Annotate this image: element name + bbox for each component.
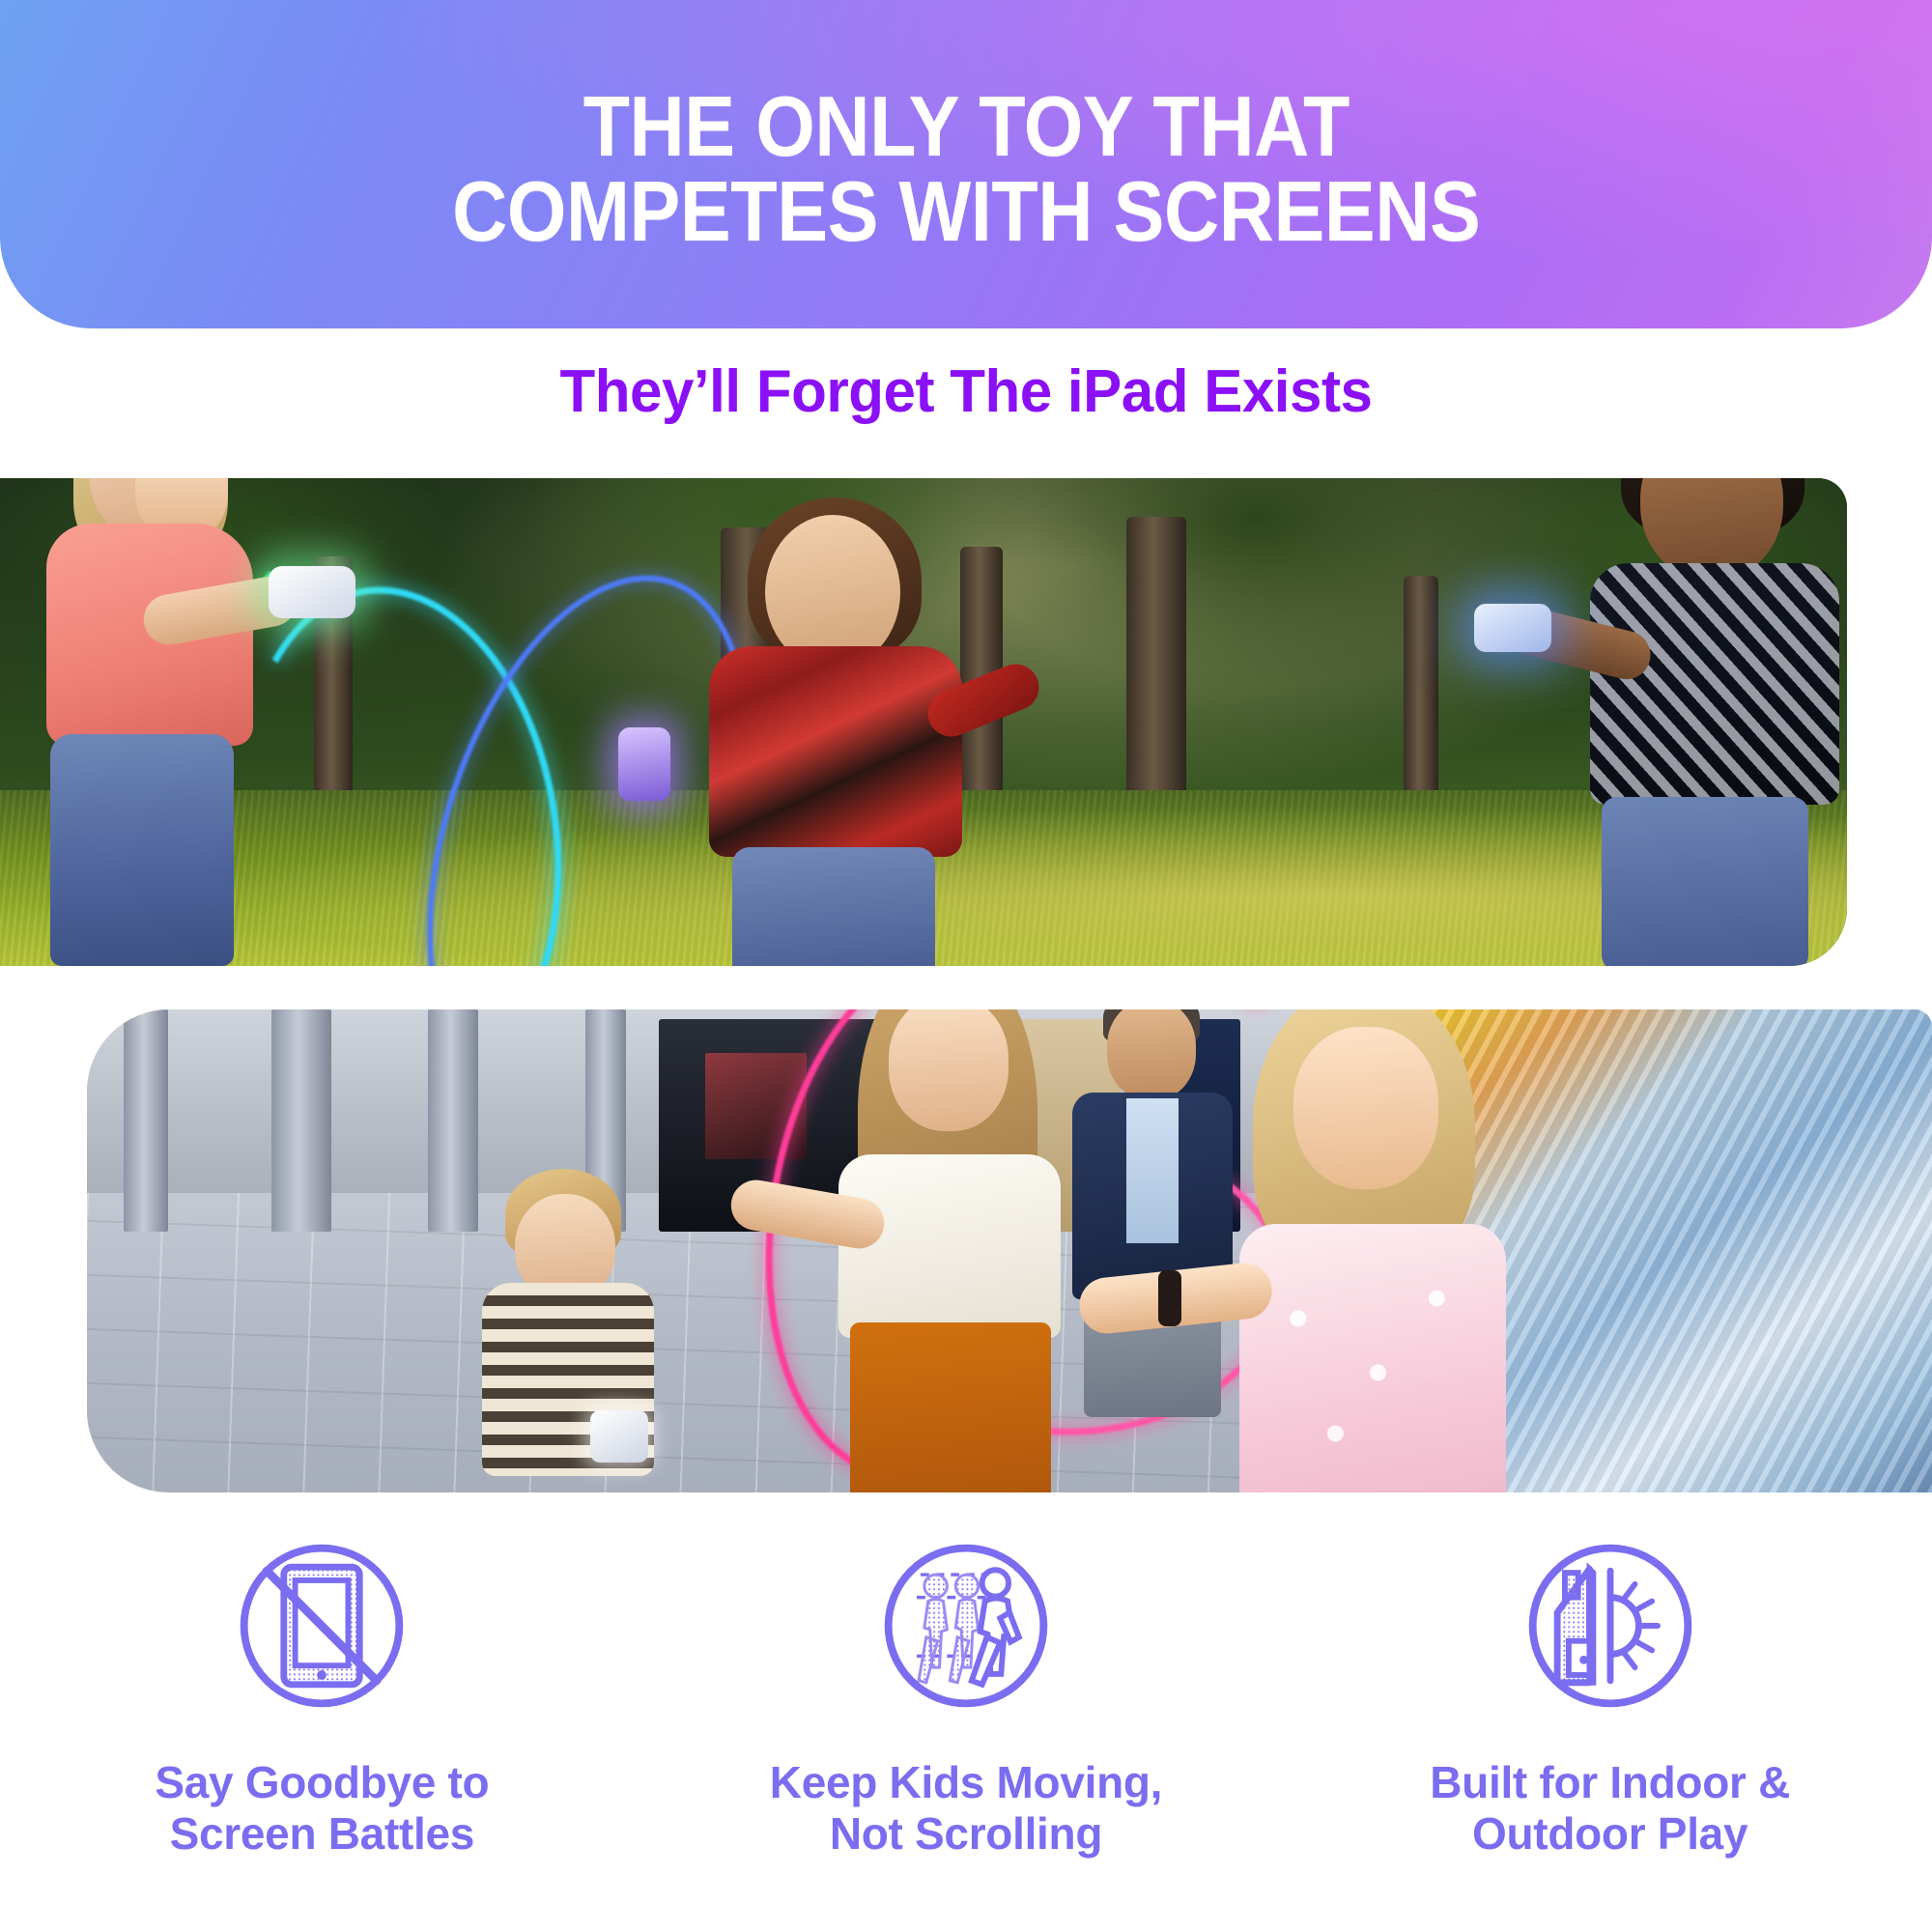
photo-outdoor-park — [0, 478, 1847, 966]
mall-column — [428, 1009, 478, 1232]
toy-controller — [590, 1410, 648, 1463]
head — [1107, 1009, 1196, 1100]
jeans — [50, 734, 234, 966]
glowing-flying-toy — [618, 727, 670, 801]
feature-label-line-1: Keep Kids Moving, — [770, 1757, 1162, 1808]
page-title: THE ONLY TOY THAT COMPETES WITH SCREENS — [452, 74, 1480, 254]
feature-label-line-1: Say Goodbye to — [155, 1757, 489, 1808]
toy-blaster — [1474, 604, 1551, 652]
child-right-with-blaster — [1567, 478, 1847, 966]
plaid-shirt — [709, 646, 962, 857]
child-center-running — [676, 515, 995, 959]
feature-label-line-2: Screen Battles — [155, 1808, 489, 1860]
girl-in-cardigan — [825, 1009, 1076, 1492]
skirt — [850, 1322, 1051, 1492]
jeans — [1602, 797, 1808, 966]
feature-item-screen-battles: Say Goodbye to Screen Battles — [51, 1531, 592, 1861]
toy-blaster — [269, 566, 355, 618]
feature-label-line-1: Built for Indoor & — [1430, 1757, 1790, 1808]
jeans — [732, 847, 935, 966]
walking-figures-motion-icon — [871, 1531, 1061, 1720]
headline-line-2: COMPETES WITH SCREENS — [452, 169, 1480, 254]
mall-column — [124, 1009, 168, 1232]
cardigan — [838, 1154, 1061, 1338]
head — [1293, 1027, 1438, 1189]
subtitle: They’ll Forget The iPad Exists — [29, 357, 1903, 426]
photo-indoor-mall — [87, 1009, 1932, 1492]
header-banner: THE ONLY TOY THAT COMPETES WITH SCREENS — [0, 0, 1932, 328]
feature-list: Say Goodbye to Screen Battles — [0, 1531, 1932, 1861]
patterned-shirt — [1590, 563, 1839, 805]
feature-label-line-2: Outdoor Play — [1430, 1808, 1790, 1860]
wrist-band — [1158, 1270, 1181, 1326]
dress — [1239, 1224, 1506, 1492]
house-with-sun-icon — [1516, 1531, 1705, 1720]
feature-label: Say Goodbye to Screen Battles — [155, 1757, 489, 1861]
feature-label: Built for Indoor & Outdoor Play — [1430, 1757, 1790, 1861]
feature-label-line-2: Not Scrolling — [770, 1808, 1162, 1860]
child-left-with-blaster — [29, 478, 270, 966]
toddler-with-controller — [474, 1169, 668, 1492]
head — [889, 1009, 1009, 1131]
girl-in-pink-dress — [1212, 1009, 1531, 1492]
feature-item-kids-moving: Keep Kids Moving, Not Scrolling — [696, 1531, 1236, 1861]
marketing-infographic: THE ONLY TOY THAT COMPETES WITH SCREENS … — [0, 0, 1932, 1932]
feature-label: Keep Kids Moving, Not Scrolling — [770, 1757, 1162, 1861]
feature-item-indoor-outdoor: Built for Indoor & Outdoor Play — [1340, 1531, 1881, 1861]
mall-column — [271, 1009, 331, 1232]
headline-line-1: THE ONLY TOY THAT — [452, 84, 1480, 169]
no-tablet-icon — [227, 1531, 416, 1720]
shirt — [1126, 1098, 1179, 1243]
